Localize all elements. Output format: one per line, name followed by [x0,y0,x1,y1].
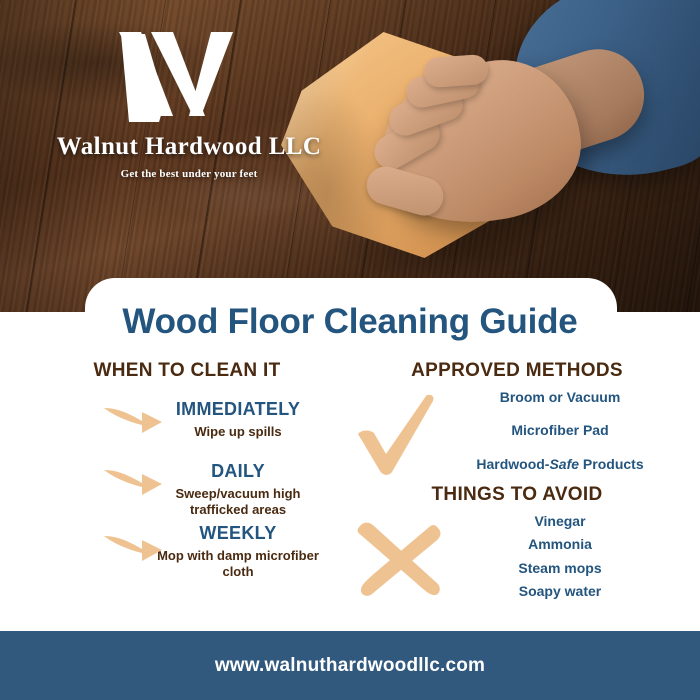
footer-bar: www.walnuthardwoodllc.com [0,631,700,700]
approved-methods-block: Broom or Vacuum Microfiber Pad Hardwood-… [352,390,682,478]
list-item: Steam mops [448,561,672,576]
page-title: Wood Floor Cleaning Guide [0,302,700,342]
infographic-poster: Walnut Hardwood LLC Get the best under y… [0,0,700,700]
list-item: IMMEDIATELY Wipe up spills [22,400,352,458]
list-item-title: WEEKLY [150,524,326,544]
x-cross-icon [352,518,446,600]
w-monogram-icon [115,30,263,126]
list-item: WEEKLY Mop with damp microfiber cloth [22,524,352,582]
list-item-subtitle: Mop with damp microfiber cloth [150,548,326,581]
list-item-text: WEEKLY Mop with damp microfiber cloth [150,524,326,580]
list-item-subtitle: Wipe up spills [150,424,326,440]
things-to-avoid-block: Vinegar Ammonia Steam mops Soapy water [352,514,682,602]
checkmark-icon [352,390,438,476]
list-item: Microfiber Pad [448,423,672,438]
brand-name: Walnut Hardwood LLC [44,134,334,159]
column-methods: APPROVED METHODS Broom or Vacuum Microfi… [352,360,682,602]
list-item-title: IMMEDIATELY [150,400,326,420]
list-item-text: DAILY Sweep/vacuum high trafficked areas [150,462,326,518]
finger-icon [423,54,489,88]
list-item: Ammonia [448,537,672,552]
brand-tagline: Get the best under your feet [44,168,334,180]
arrow-right-icon [102,532,164,566]
list-item: DAILY Sweep/vacuum high trafficked areas [22,462,352,520]
website-url[interactable]: www.walnuthardwoodllc.com [215,655,485,677]
brand-logo: Walnut Hardwood LLC Get the best under y… [44,30,334,180]
hero-photo: Walnut Hardwood LLC Get the best under y… [0,0,700,314]
list-item: Vinegar [448,514,672,529]
approved-methods-list: Broom or Vacuum Microfiber Pad Hardwood-… [448,390,672,472]
list-item: Hardwood-Safe Products [448,457,672,472]
section-heading-things-to-avoid: THINGS TO AVOID [352,484,682,506]
section-heading-approved-methods: APPROVED METHODS [352,360,682,382]
list-item-text: IMMEDIATELY Wipe up spills [150,400,326,440]
list-item-subtitle: Sweep/vacuum high trafficked areas [150,486,326,519]
arrow-right-icon [102,466,164,500]
arrow-right-icon [102,404,164,438]
column-when-to-clean: WHEN TO CLEAN IT IMMEDIATELY Wipe up spi… [22,360,352,586]
things-to-avoid-list: Vinegar Ammonia Steam mops Soapy water [448,514,672,600]
list-item: Soapy water [448,584,672,599]
content-columns: WHEN TO CLEAN IT IMMEDIATELY Wipe up spi… [0,360,700,625]
when-to-clean-list: IMMEDIATELY Wipe up spills DAILY Sweep/v… [22,400,352,582]
list-item-title: DAILY [150,462,326,482]
list-item: Broom or Vacuum [448,390,672,405]
section-heading-when-to-clean: WHEN TO CLEAN IT [22,360,352,382]
